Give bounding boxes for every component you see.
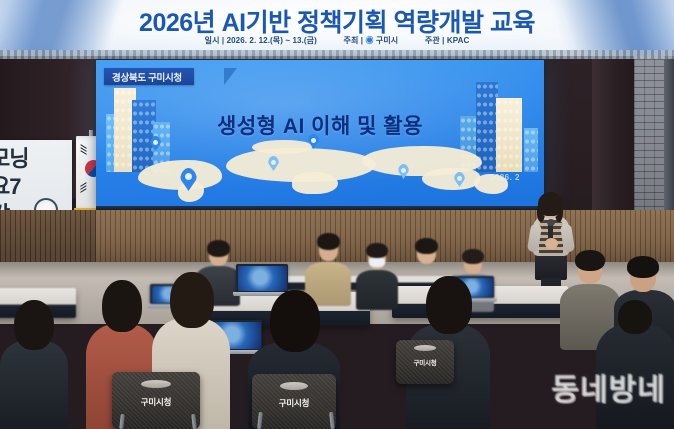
attendee-foreground xyxy=(0,300,68,429)
chair-handle-slot xyxy=(141,380,171,388)
chair-back: 구미시청 xyxy=(396,340,454,384)
banner-title: 2026년 AI기반 정책기획 역량개발 교육 xyxy=(0,3,674,39)
chair-back: 구미시청 xyxy=(112,372,200,429)
attendee-with-mask xyxy=(356,244,398,306)
slide-ribbon-tag: 경상북도 구미시청 xyxy=(104,68,194,85)
banner-date-label: 일시 | xyxy=(205,36,225,45)
microphone-head-icon xyxy=(547,219,555,226)
presenter-hair xyxy=(538,192,563,216)
gumi-city-emblem-icon: ◉ xyxy=(365,36,373,45)
banner-host-label: 주최 | xyxy=(344,36,364,45)
presenter-hands xyxy=(545,238,558,249)
slide-world-map xyxy=(122,138,522,202)
banner-date-value: 2026. 2. 12.(목) ~ 13.(금) xyxy=(227,36,317,45)
photo-scene: 2026년 AI기반 정책기획 역량개발 교육 일시 | 2026. 2. 12… xyxy=(0,0,674,429)
banner-organizer-label: 주관 | xyxy=(425,36,445,45)
ribbon-tail xyxy=(224,68,237,85)
chair-handle-slot xyxy=(414,345,436,351)
side-banner-line2: 요7 xyxy=(0,176,20,198)
map-pin-icon xyxy=(398,164,409,179)
chair-handle-slot xyxy=(280,382,308,390)
chair-label: 구미시청 xyxy=(112,396,200,408)
map-pin-icon xyxy=(150,136,161,151)
slide-title: 생성형 AI 이해 및 활용 xyxy=(96,110,544,140)
chair-label: 구미시청 xyxy=(396,357,454,367)
banner-host-value: 구미시 xyxy=(376,36,398,45)
banner-bottom-strip xyxy=(0,50,674,59)
side-banner-line1: 모닝 xyxy=(0,148,28,170)
face-mask-icon xyxy=(369,257,385,267)
banner-subtitle: 일시 | 2026. 2. 12.(목) ~ 13.(금) 주최 | ◉ 구미시… xyxy=(0,35,674,46)
stage-wood-paneling-left xyxy=(0,210,96,266)
attendee-foreground xyxy=(596,300,674,429)
chair-back: 구미시청 xyxy=(252,374,336,429)
banner-organizer-value: KPAC xyxy=(447,36,469,45)
projected-slide: 경상북도 구미시청 생성형 AI 이해 및 활용 2026. 2 xyxy=(96,60,544,208)
event-banner: 2026년 AI기반 정책기획 역량개발 교육 일시 | 2026. 2. 12… xyxy=(0,0,674,56)
chair-label: 구미시청 xyxy=(252,397,336,409)
